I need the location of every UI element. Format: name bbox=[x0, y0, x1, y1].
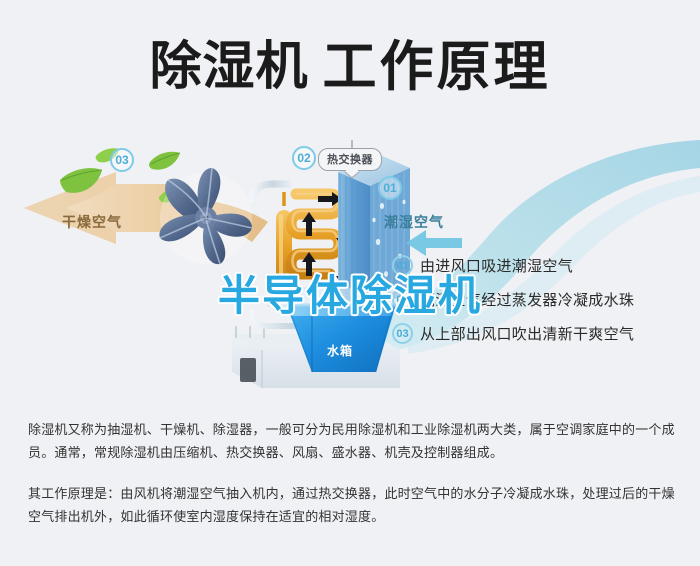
page-title-part-two: 工作原理 bbox=[323, 22, 551, 101]
page-title: 除湿机工作原理 bbox=[0, 22, 700, 101]
dry-air-label: 干燥空气 bbox=[62, 212, 122, 232]
paragraph-principle: 其工作原理是：由风机将潮湿空气抽入机内，通过热交换器，此时空气中的水分子冷凝成水… bbox=[28, 482, 678, 528]
step-row: 01 由进风口吸进潮湿空气 bbox=[392, 248, 692, 282]
step-badge-02: 02 bbox=[392, 289, 413, 310]
step-text-03: 从上部出风口吹出清新干爽空气 bbox=[420, 323, 634, 344]
humid-air-label: 潮湿空气 bbox=[384, 212, 444, 232]
step-text-01: 由进风口吸进潮湿空气 bbox=[420, 255, 573, 276]
heat-exchanger-callout: 热交换器 bbox=[318, 148, 382, 171]
water-tank-label: 水箱 bbox=[327, 342, 353, 359]
step-row: 03 从上部出风口吹出清新干爽空气 bbox=[392, 316, 692, 350]
step-badge-03: 03 bbox=[392, 323, 413, 344]
condenser-coil bbox=[291, 194, 339, 286]
diagram-marker-02: 02 bbox=[292, 146, 316, 170]
step-row: 02 潮湿空气经过蒸发器冷凝成水珠 bbox=[392, 282, 692, 316]
fan-blades bbox=[159, 168, 252, 264]
paragraph-definition: 除湿机又称为抽湿机、干燥机、除湿器，一般可分为民用除湿机和工业除湿机两大类，属于… bbox=[28, 418, 678, 464]
step-badge-01: 01 bbox=[392, 255, 413, 276]
step-text-02: 潮湿空气经过蒸发器冷凝成水珠 bbox=[420, 289, 634, 310]
body-copy: 除湿机又称为抽湿机、干燥机、除湿器，一般可分为民用除湿机和工业除湿机两大类，属于… bbox=[28, 418, 678, 546]
diagram-marker-03: 03 bbox=[110, 148, 134, 172]
diagram-marker-01: 01 bbox=[378, 176, 402, 200]
page-title-part-one: 除湿机 bbox=[149, 24, 308, 99]
process-step-list: 01 由进风口吸进潮湿空气 02 潮湿空气经过蒸发器冷凝成水珠 03 从上部出风… bbox=[392, 248, 692, 350]
